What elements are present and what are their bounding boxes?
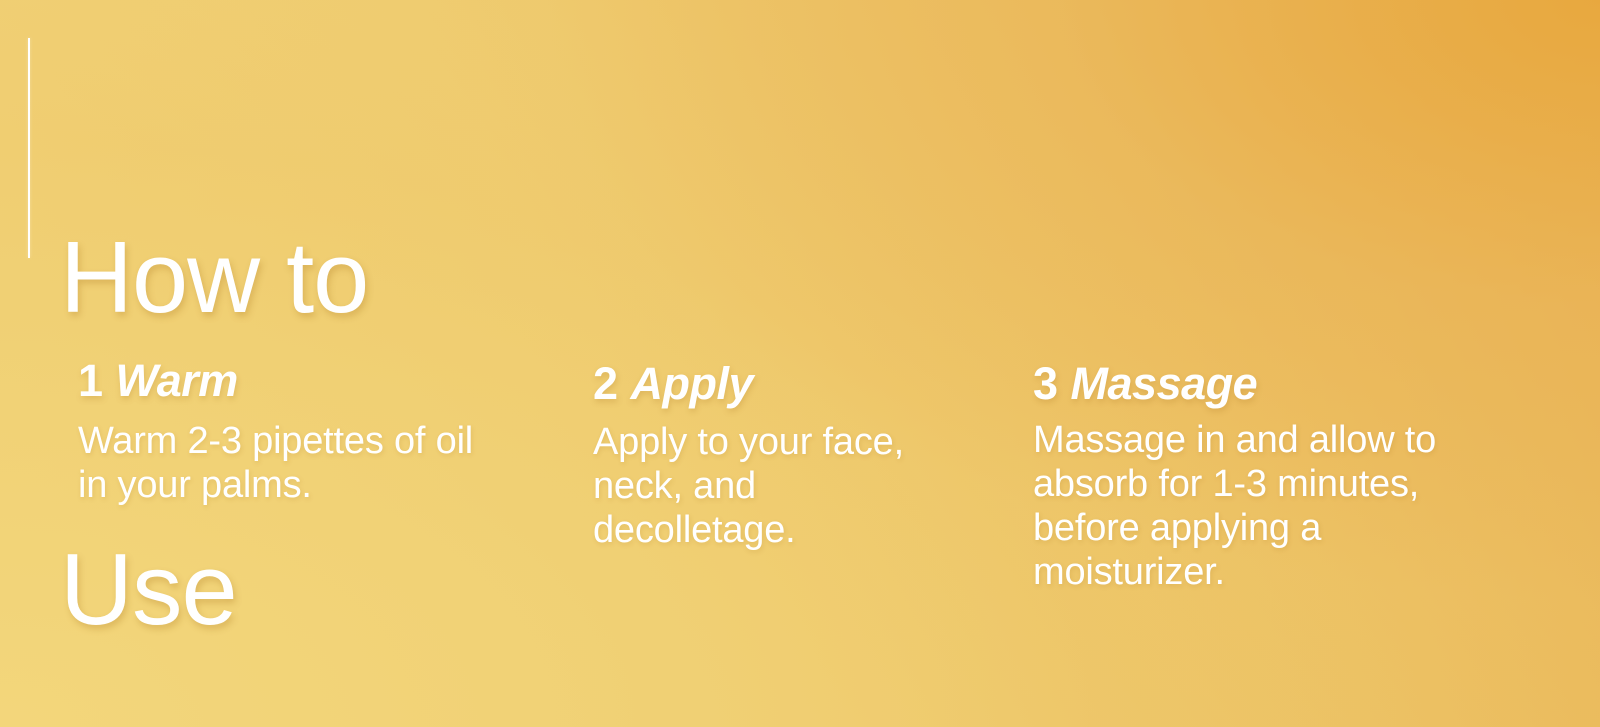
step-name-3: Massage bbox=[1071, 358, 1258, 409]
step-name-1: Warm bbox=[116, 355, 238, 406]
step-item-1: 1 Warm Warm 2-3 pipettes of oil in your … bbox=[78, 355, 498, 507]
step-item-2: 2 Apply Apply to your face, neck, and de… bbox=[593, 358, 923, 552]
step-number-2: 2 bbox=[593, 358, 618, 409]
step-number-3: 3 bbox=[1033, 358, 1058, 409]
step-heading-1: 1 Warm bbox=[78, 355, 498, 407]
step-item-3: 3 Massage Massage in and allow to absorb… bbox=[1033, 358, 1513, 594]
step-name-2: Apply bbox=[631, 358, 754, 409]
steps-list: 1 Warm Warm 2-3 pipettes of oil in your … bbox=[0, 0, 1600, 727]
step-heading-3: 3 Massage bbox=[1033, 358, 1513, 410]
step-body-1: Warm 2-3 pipettes of oil in your palms. bbox=[78, 419, 498, 507]
step-number-1: 1 bbox=[78, 355, 103, 406]
step-heading-2: 2 Apply bbox=[593, 358, 923, 410]
how-to-use-banner: How to Use 1 Warm Warm 2-3 pipettes of o… bbox=[0, 0, 1600, 727]
step-body-3: Massage in and allow to absorb for 1-3 m… bbox=[1033, 418, 1513, 594]
step-body-2: Apply to your face, neck, and decolletag… bbox=[593, 420, 923, 552]
